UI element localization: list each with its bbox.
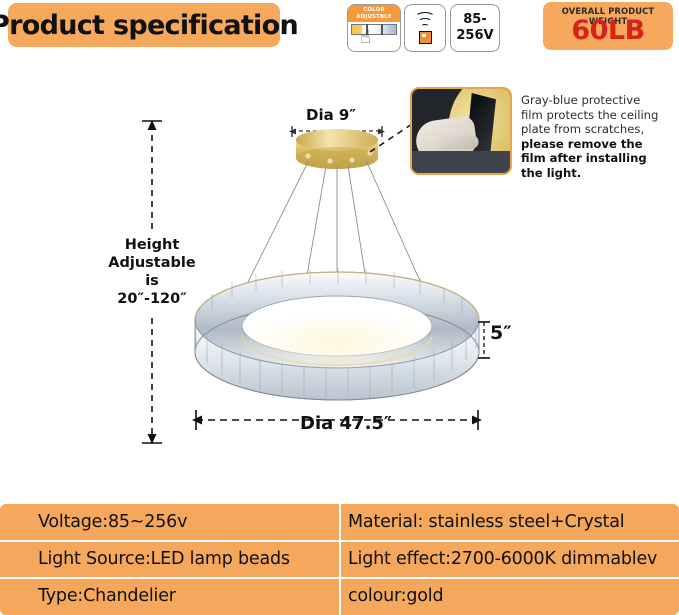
color-adjustable-line2: ADJUSTBLE <box>356 14 392 21</box>
voltage-badge-line1: 85- <box>451 12 499 28</box>
voltage-badge-line2: 256V <box>451 28 499 44</box>
height-label-line-2: Adjustable <box>96 254 208 272</box>
height-label-line-1: Height <box>96 236 208 254</box>
crystal-ring-chandelier <box>195 268 479 400</box>
protective-film-note: Gray-blue protective film protects the c… <box>521 93 677 181</box>
canopy-diameter-label: Dia 9″ <box>306 106 356 124</box>
photo-background <box>412 151 510 173</box>
weight-value: 60LB <box>543 15 673 46</box>
note-line-1: Gray-blue protective <box>521 93 640 107</box>
remote-body-icon <box>419 31 432 44</box>
page-title: Product specification <box>0 10 298 41</box>
spec-voltage: Voltage:85~256v <box>0 504 340 540</box>
height-label-line-4: 20″-120″ <box>96 290 208 308</box>
specification-table: Voltage:85~256v Material: stainless stee… <box>0 504 679 615</box>
color-temperature-strip <box>351 24 397 35</box>
badge-remote-control <box>404 4 446 52</box>
color-adjustable-line1: COLOR <box>363 7 385 14</box>
badge-voltage-range: 85- 256V <box>450 4 500 52</box>
height-label-line-3: is <box>96 272 208 290</box>
product-diagram: Gray-blue protective film protects the c… <box>0 58 679 488</box>
color-adjustable-header: COLOR ADJUSTBLE <box>348 5 400 22</box>
spec-light-source: Light Source:LED lamp beads <box>0 541 340 577</box>
signal-arc-inner <box>421 24 429 29</box>
page-title-pill: Product specification <box>8 3 280 47</box>
spec-colour: colour:gold <box>340 578 679 614</box>
ring-height-label: 5″ <box>490 322 512 344</box>
note-bold-line-2: film after installing <box>521 151 647 165</box>
spec-type: Type:Chandelier <box>0 578 340 614</box>
table-column-divider <box>339 504 341 615</box>
ceiling-canopy <box>296 129 378 169</box>
badge-product-weight: OVERALL PRODUCT WEIGHT 60LB <box>543 2 673 50</box>
remote-signal-icon <box>405 12 445 44</box>
header-bar: Product specification COLOR ADJUSTBLE ☝ … <box>0 0 679 58</box>
ring-diameter-label: Dia 47.5″ <box>300 413 392 434</box>
note-line-3: plate from scratches, <box>521 122 644 136</box>
hand-pointer-icon: ☝ <box>360 29 371 47</box>
note-bold-line-3: the light. <box>521 166 581 180</box>
ring-height-dimension-line <box>478 322 490 358</box>
spec-light-effect: Light effect:2700-6000K dimmablev <box>340 541 679 577</box>
badge-color-adjustable: COLOR ADJUSTBLE ☝ <box>347 4 401 52</box>
note-line-2: film protects the ceiling <box>521 108 658 122</box>
height-adjustable-label: Height Adjustable is 20″-120″ <box>96 236 208 308</box>
spec-material: Material: stainless steel+Crystal <box>340 504 679 540</box>
note-bold-line-1: please remove the <box>521 137 643 151</box>
film-removal-photo <box>410 87 512 175</box>
